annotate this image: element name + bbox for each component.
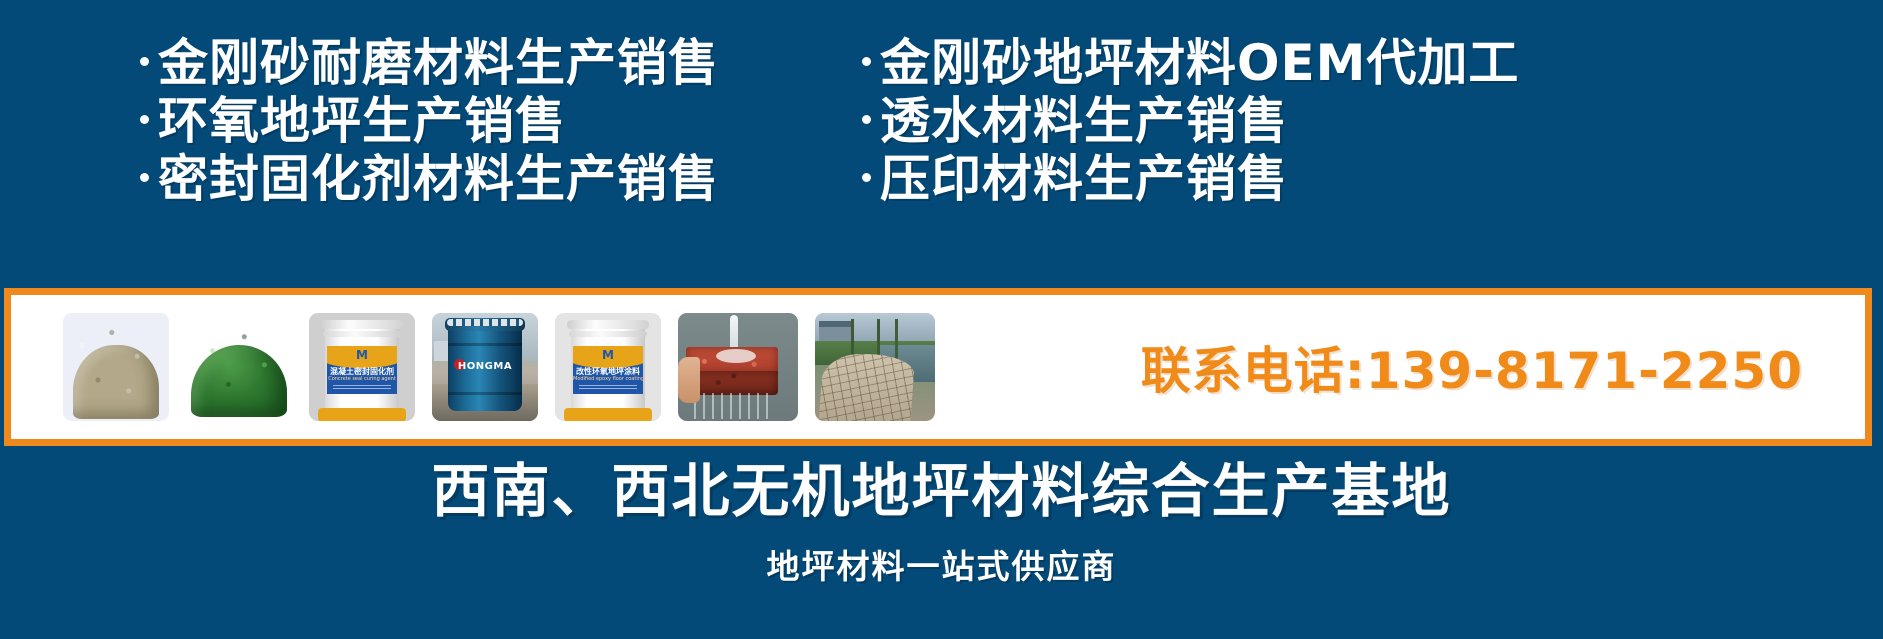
brand-logo-icon: M	[602, 349, 614, 361]
services-section: 金刚砂耐磨材料生产销售 环氧地坪生产销售 密封固化剂材料生产销售 金刚砂地坪材料…	[0, 0, 1883, 288]
drum-hoop	[448, 343, 522, 346]
drum-lid	[445, 318, 525, 331]
service-item: 金刚砂耐磨材料生产销售	[140, 34, 719, 92]
grain-texture-overlay	[63, 313, 169, 421]
water-drip	[694, 393, 768, 419]
services-right-column: 金刚砂地坪材料OEM代加工 透水材料生产销售 压印材料生产销售	[862, 34, 1519, 208]
pail-label-en: Concrete seal curing agent	[327, 376, 397, 382]
product-thumbnail-strip: M 混凝土密封固化剂 Concrete seal curing agent	[63, 313, 935, 421]
bullet-dot-icon	[862, 57, 871, 66]
grain-texture-overlay	[186, 313, 292, 421]
services-left-column: 金刚砂耐磨材料生产销售 环氧地坪生产销售 密封固化剂材料生产销售	[140, 34, 719, 208]
bullet-dot-icon	[140, 57, 149, 66]
blue-steel-drum-photo: HONGMA	[448, 323, 522, 411]
promo-banner: 金刚砂耐磨材料生产销售 环氧地坪生产销售 密封固化剂材料生产销售 金刚砂地坪材料…	[0, 0, 1883, 639]
service-label: 环氧地坪生产销售	[158, 92, 566, 150]
service-label: 密封固化剂材料生产销售	[158, 150, 719, 208]
hand	[678, 357, 700, 403]
white-pail-photo: M 混凝土密封固化剂 Concrete seal curing agent	[325, 320, 399, 416]
product-thumbnail-sealer-pail[interactable]: M 混凝土密封固化剂 Concrete seal curing agent	[309, 313, 415, 421]
service-item: 环氧地坪生产销售	[140, 92, 719, 150]
bullet-dot-icon	[140, 173, 149, 182]
pail-label: M 改性环氧地坪涂料 Modified epoxy floor coating	[573, 346, 643, 394]
label-fine-print	[333, 385, 391, 391]
brand-logo-icon: M	[356, 349, 368, 361]
pail-rim-secondary	[323, 331, 401, 337]
pail-label: M 混凝土密封固化剂 Concrete seal curing agent	[327, 346, 397, 394]
product-thumbnail-stamped-path[interactable]	[815, 313, 935, 421]
service-label: 压印材料生产销售	[880, 150, 1288, 208]
drum-brand-label: HONGMA	[448, 361, 522, 372]
pail-base	[318, 408, 406, 421]
pail-label-en: Modified epoxy floor coating	[573, 376, 643, 382]
drum-hoop	[448, 392, 522, 395]
service-label: 金刚砂地坪材料OEM代加工	[880, 34, 1519, 92]
pail-rim	[567, 320, 649, 329]
contact-phone[interactable]: 联系电话:139-8171-2250	[1141, 331, 1803, 403]
white-pail-photo: M 改性环氧地坪涂料 Modified epoxy floor coating	[571, 320, 645, 416]
product-panel: M 混凝土密封固化剂 Concrete seal curing agent	[4, 288, 1872, 446]
service-label: 金刚砂耐磨材料生产销售	[158, 34, 719, 92]
footer-subtitle: 地坪材料一站式供应商	[767, 540, 1117, 588]
pail-base	[564, 408, 652, 421]
bullet-dot-icon	[862, 115, 871, 124]
footer-section: 西南、西北无机地坪材料综合生产基地 地坪材料一站式供应商	[0, 446, 1883, 639]
pail-rim-secondary	[569, 331, 647, 337]
stamped-concrete-path-photo	[819, 354, 916, 421]
service-item: 压印材料生产销售	[862, 150, 1519, 208]
product-thumbnail-permeable-slab[interactable]	[678, 313, 798, 421]
product-thumbnail-epoxy-pail[interactable]: M 改性环氧地坪涂料 Modified epoxy floor coating	[555, 313, 661, 421]
footer-headline: 西南、西北无机地坪材料综合生产基地	[431, 460, 1451, 524]
bullet-dot-icon	[862, 173, 871, 182]
pail-rim	[321, 320, 403, 329]
service-item: 透水材料生产销售	[862, 92, 1519, 150]
product-thumbnail-green-powder[interactable]	[186, 313, 292, 421]
service-item: 金刚砂地坪材料OEM代加工	[862, 34, 1519, 92]
product-thumbnail-hongma-drum[interactable]: HONGMA	[432, 313, 538, 421]
water-splash	[716, 349, 756, 363]
service-item: 密封固化剂材料生产销售	[140, 150, 719, 208]
service-label: 透水材料生产销售	[880, 92, 1288, 150]
label-fine-print	[579, 385, 637, 391]
bullet-dot-icon	[140, 115, 149, 124]
product-thumbnail-grey-sand[interactable]	[63, 313, 169, 421]
